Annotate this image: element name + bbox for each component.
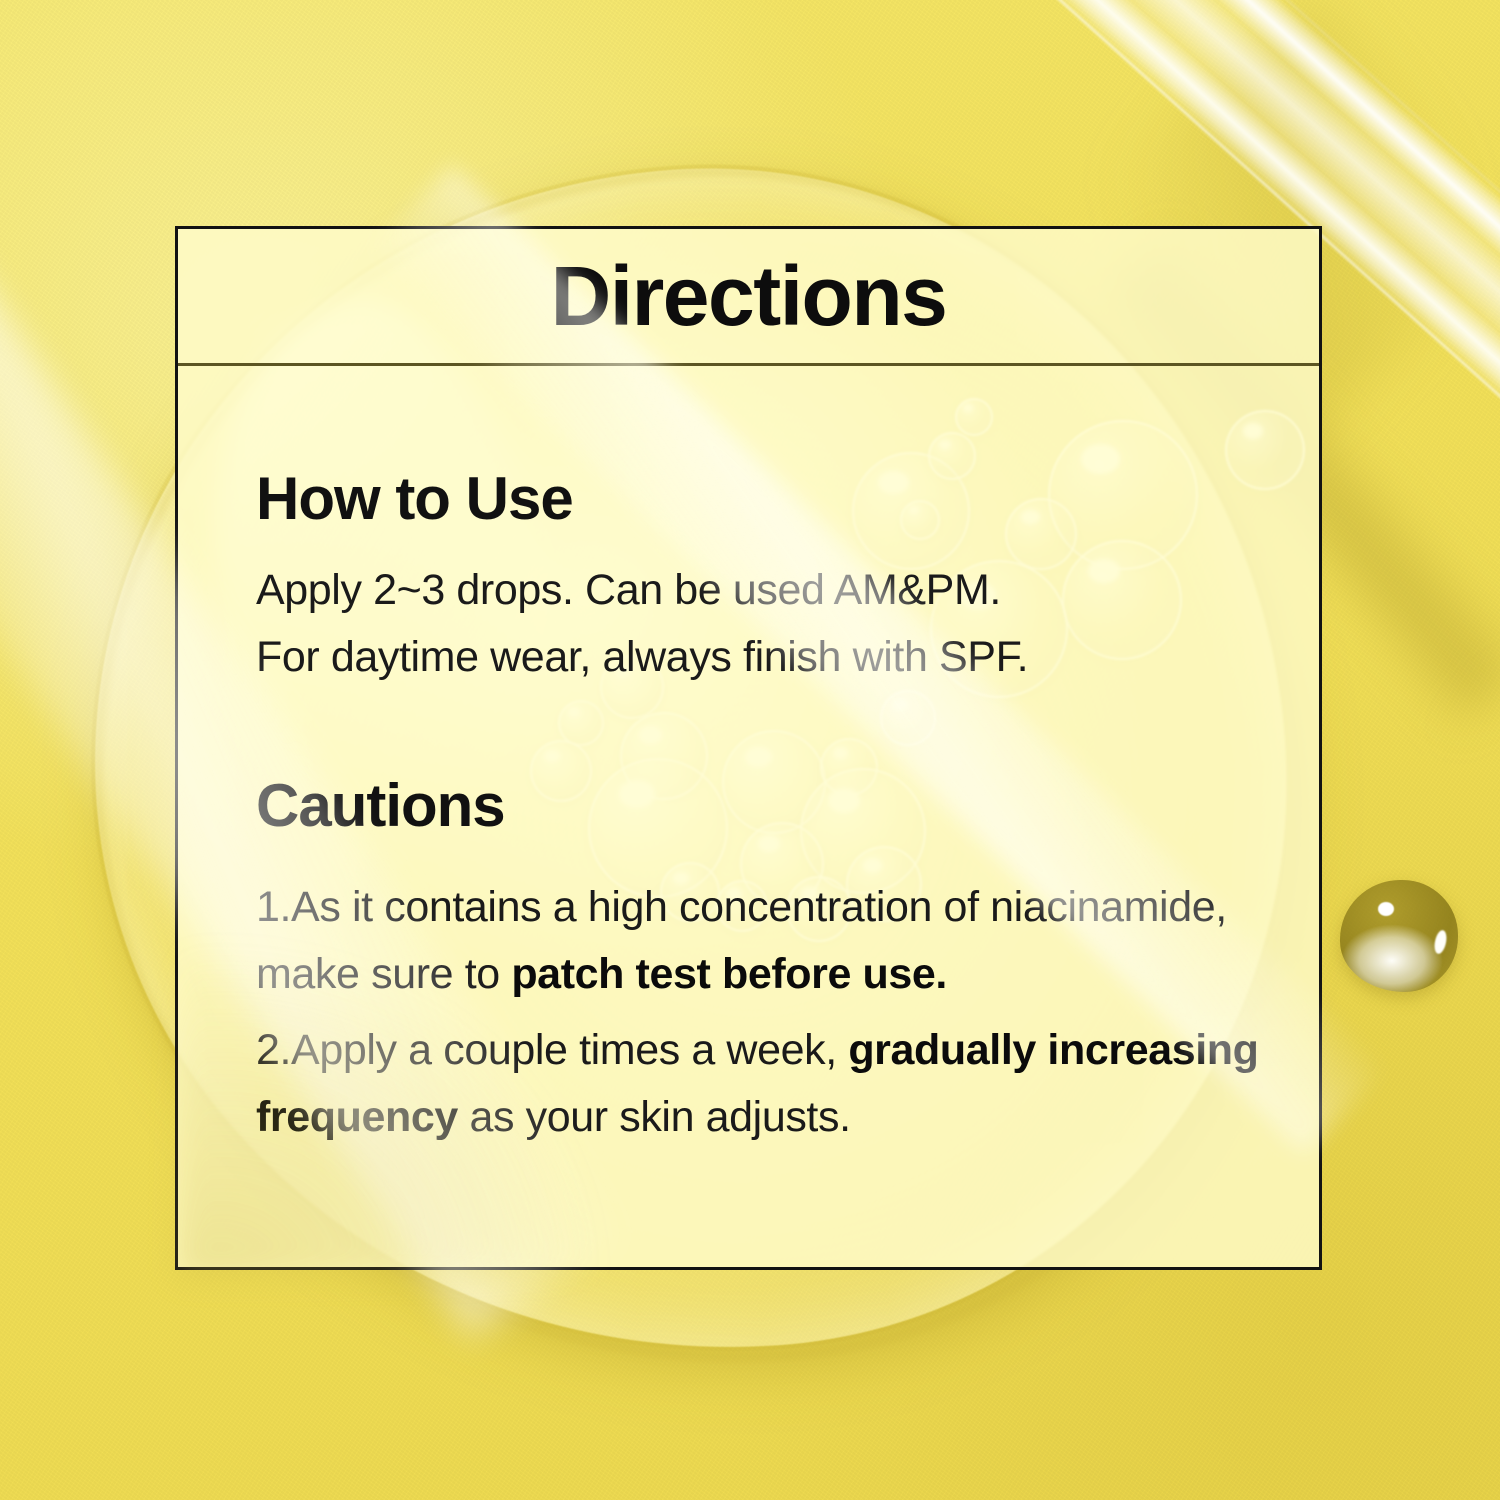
panel-body: How to Use Apply 2~3 drops. Can be used … [178, 464, 1319, 1151]
caution-1-tail-plain: make sure to [256, 950, 511, 998]
caution-item-1: 1.As it contains a high concentration of… [256, 874, 1279, 1007]
how-to-use-line-2: For daytime wear, always finish with SPF… [256, 636, 1279, 679]
serum-droplet-highlight-small [1378, 902, 1394, 916]
how-to-use-line-1: Apply 2~3 drops. Can be used AM&PM. [256, 569, 1279, 612]
cautions-list: 1.As it contains a high concentration of… [256, 874, 1279, 1151]
how-to-use-lines: Apply 2~3 drops. Can be used AM&PM. For … [256, 569, 1279, 679]
page-title: Directions [551, 254, 947, 338]
caution-2-tail-bold: frequency [256, 1093, 458, 1141]
section-heading-cautions: Cautions [256, 771, 1279, 840]
caution-1-tail-bold: patch test before use. [511, 950, 947, 998]
directions-panel: Directions How to Use Apply 2~3 drops. C… [175, 226, 1322, 1270]
caution-item-2: 2.Apply a couple times a week, gradually… [256, 1017, 1279, 1150]
product-directions-image: Directions How to Use Apply 2~3 drops. C… [0, 0, 1500, 1500]
section-heading-how-to-use: How to Use [256, 464, 1279, 533]
caution-1-lead: 1.As it contains a high concentration of… [256, 883, 1227, 931]
caution-2-lead-bold: gradually increasing [848, 1026, 1258, 1074]
panel-header: Directions [178, 229, 1319, 366]
caution-2-tail-plain: as your skin adjusts. [458, 1093, 851, 1141]
caution-2-lead-plain: 2.Apply a couple times a week, [256, 1026, 848, 1074]
